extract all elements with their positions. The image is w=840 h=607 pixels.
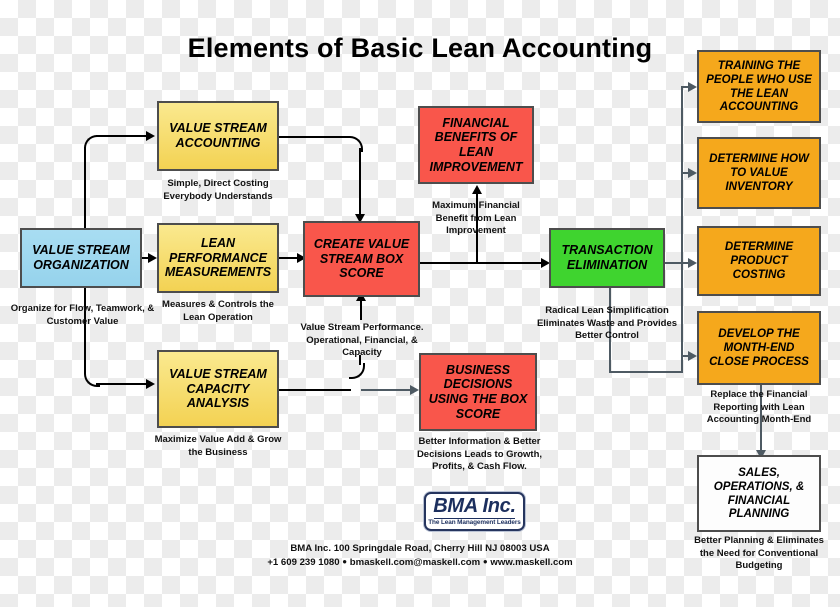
connector-right-vertical-bus bbox=[681, 86, 683, 373]
caption-measures-controls: Measures & Controls the Lean Operation bbox=[150, 299, 286, 324]
connector-capacity-run bbox=[278, 389, 351, 391]
connector-accounting-run bbox=[279, 136, 349, 138]
node-financial-benefits[interactable]: FINANCIAL BENEFITS OF LEAN IMPROVEMENT bbox=[418, 106, 534, 184]
connector-vso-bottom-stem bbox=[84, 288, 86, 373]
node-value-stream-capacity-analysis[interactable]: VALUE STREAM CAPACITY ANALYSIS bbox=[157, 350, 279, 428]
arrowhead-to-capacity-analysis bbox=[146, 379, 155, 389]
node-business-decisions[interactable]: BUSINESS DECISIONS USING THE BOX SCORE bbox=[419, 353, 537, 431]
connector-vso-top-stem bbox=[84, 147, 86, 228]
node-determine-product-costing[interactable]: DETERMINE PRODUCT COSTING bbox=[697, 226, 821, 296]
node-create-value-stream-box-score[interactable]: CREATE VALUE STREAM BOX SCORE bbox=[303, 221, 420, 297]
footer-address: BMA Inc. 100 Springdale Road, Cherry Hil… bbox=[0, 542, 840, 556]
logo-name: BMA Inc. bbox=[433, 496, 515, 516]
node-lean-performance-measurements[interactable]: LEAN PERFORMANCE MEASUREMENTS bbox=[157, 223, 279, 293]
arrowhead-to-develop-month-end bbox=[688, 351, 697, 361]
node-transaction-elimination[interactable]: TRANSACTION ELIMINATION bbox=[549, 228, 665, 288]
caption-organize-for-flow: Organize for Flow, Teamwork, & Customer … bbox=[10, 303, 155, 328]
footer-contact: +1 609 239 1080 ● bmaskell.com@maskell.c… bbox=[0, 556, 840, 570]
footer-separator-2: ● bbox=[483, 557, 488, 566]
footer-website[interactable]: www.maskell.com bbox=[490, 557, 572, 568]
caption-radical-lean-simplification: Radical Lean Simplification Eliminates W… bbox=[533, 305, 681, 343]
arrowhead-to-lean-performance bbox=[148, 253, 157, 263]
arrowhead-to-training bbox=[688, 82, 697, 92]
connector-capacity-business-decisions bbox=[361, 389, 417, 391]
node-sales-operations-financial-planning[interactable]: SALES, OPERATIONS, & FINANCIAL PLANNING bbox=[697, 455, 821, 532]
caption-simple-direct-costing: Simple, Direct Costing Everybody Underst… bbox=[150, 178, 286, 203]
connector-boxscore-transaction bbox=[420, 262, 548, 264]
node-training-the-people[interactable]: TRAINING THE PEOPLE WHO USE THE LEAN ACC… bbox=[697, 50, 821, 123]
node-develop-month-end-close[interactable]: DEVELOP THE MONTH-END CLOSE PROCESS bbox=[697, 311, 821, 385]
caption-maximum-financial-benefit: Maximum Financial Benefit from Lean Impr… bbox=[415, 200, 537, 238]
footer-email[interactable]: bmaskell.com@maskell.com bbox=[350, 557, 480, 568]
caption-replace-financial-reporting: Replace the Financial Reporting with Lea… bbox=[696, 389, 822, 427]
connector-vso-accounting-run bbox=[96, 135, 148, 137]
caption-better-information: Better Information & Better Decisions Le… bbox=[412, 436, 547, 474]
arrowhead-to-financial-benefits bbox=[472, 185, 482, 194]
node-value-stream-organization[interactable]: VALUE STREAM ORGANIZATION bbox=[20, 228, 142, 288]
node-determine-value-inventory[interactable]: DETERMINE HOW TO VALUE INVENTORY bbox=[697, 137, 821, 209]
arrowhead-to-value-stream-accounting bbox=[146, 131, 155, 141]
node-value-stream-accounting[interactable]: VALUE STREAM ACCOUNTING bbox=[157, 101, 279, 171]
arrowhead-to-business-decisions bbox=[410, 385, 419, 395]
arrowhead-to-determine-product-costing bbox=[688, 258, 697, 268]
footer: BMA Inc. 100 Springdale Road, Cherry Hil… bbox=[0, 542, 840, 570]
footer-phone: +1 609 239 1080 bbox=[267, 557, 339, 568]
connector-vso-capacity-run bbox=[96, 383, 148, 385]
caption-value-stream-performance: Value Stream Performance. Operational, F… bbox=[288, 322, 436, 360]
connector-transaction-to-bus-bottom bbox=[609, 371, 682, 373]
bma-logo[interactable]: BMA Inc. The Lean Management Leaders bbox=[424, 492, 525, 531]
logo-tagline: The Lean Management Leaders bbox=[428, 520, 520, 526]
caption-maximize-value-add: Maximize Value Add & Grow the Business bbox=[150, 434, 286, 459]
connector-accounting-drop bbox=[359, 148, 361, 217]
arrowhead-to-determine-inventory bbox=[688, 168, 697, 178]
footer-separator-1: ● bbox=[342, 557, 347, 566]
diagram-canvas: Elements of Basic Lean Accounting bbox=[0, 0, 840, 607]
